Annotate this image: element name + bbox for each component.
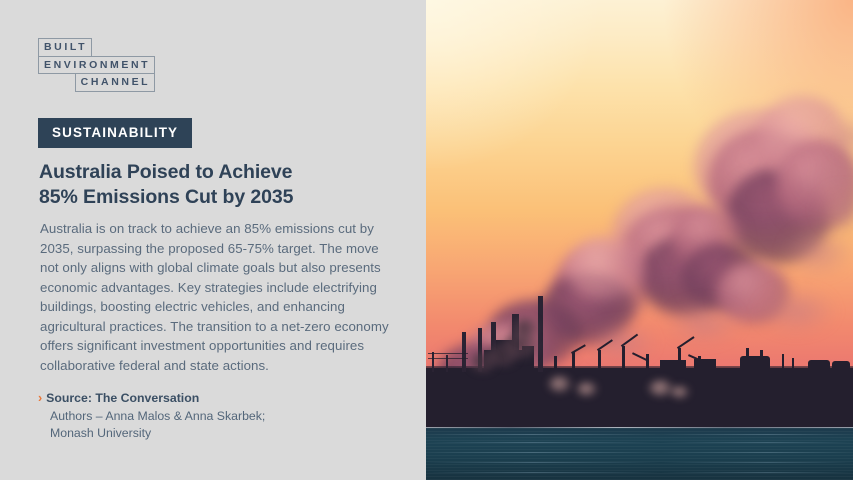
logo-row-2: ENVIRONMENT <box>38 56 155 75</box>
hero-photo <box>426 0 853 480</box>
storage-tank <box>740 356 770 372</box>
water-ripple <box>426 472 853 473</box>
tank-mast <box>760 350 763 372</box>
crane-mast <box>646 354 649 372</box>
tall-chimney <box>538 296 543 372</box>
page-title: Australia Poised to Achieve 85% Emission… <box>39 160 369 211</box>
land-silhouette <box>426 368 853 428</box>
dock-building <box>694 359 716 372</box>
tank-mast <box>746 348 749 372</box>
source-institution: Monash University <box>38 425 388 442</box>
crane-mast <box>572 352 575 372</box>
chimney <box>462 332 466 372</box>
pylon <box>782 354 784 372</box>
headline-line-2: 85% Emissions Cut by 2035 <box>39 185 369 210</box>
crane-mast <box>622 346 625 372</box>
pylon <box>792 358 794 372</box>
stack-smoke <box>512 318 538 340</box>
stack-smoke <box>670 386 690 398</box>
left-text-panel: BUILT ENVIRONMENT CHANNEL SUSTAINABILITY… <box>0 0 426 480</box>
storage-tank <box>832 361 850 372</box>
stack-smoke <box>576 382 598 396</box>
stack-smoke <box>548 376 572 392</box>
dock-building <box>660 360 686 372</box>
source-authors: Authors – Anna Malos & Anna Skarbek; <box>38 408 388 425</box>
logo-line-environment: ENVIRONMENT <box>38 56 155 75</box>
logo-row-3: CHANNEL <box>38 73 155 92</box>
power-line <box>428 353 468 354</box>
logo-row-1: BUILT <box>38 38 155 57</box>
pylon <box>432 352 434 372</box>
crane-mast <box>598 350 601 372</box>
logo-line-built: BUILT <box>38 38 92 57</box>
water-ripple <box>426 434 853 435</box>
category-badge[interactable]: SUSTAINABILITY <box>38 118 192 148</box>
power-line <box>428 358 468 359</box>
brand-logo[interactable]: BUILT ENVIRONMENT CHANNEL <box>38 38 155 92</box>
headline-line-1: Australia Poised to Achieve <box>39 160 369 185</box>
water-ripple <box>426 452 853 453</box>
source-line[interactable]: › Source: The Conversation <box>38 390 388 408</box>
crane-mast <box>554 356 557 372</box>
water-body <box>426 428 853 480</box>
body-paragraph: Australia is on track to achieve an 85% … <box>40 219 392 375</box>
source-label: Source: The Conversation <box>46 390 199 407</box>
logo-line-channel: CHANNEL <box>75 73 156 92</box>
source-attribution: › Source: The Conversation Authors – Ann… <box>38 390 388 443</box>
water-ripple <box>426 442 853 443</box>
social-graphic-card: BUILT ENVIRONMENT CHANNEL SUSTAINABILITY… <box>0 0 853 480</box>
water-ripple <box>426 462 853 463</box>
stack-smoke <box>470 352 496 372</box>
chevron-right-icon: › <box>38 390 42 408</box>
storage-tank <box>808 360 830 372</box>
